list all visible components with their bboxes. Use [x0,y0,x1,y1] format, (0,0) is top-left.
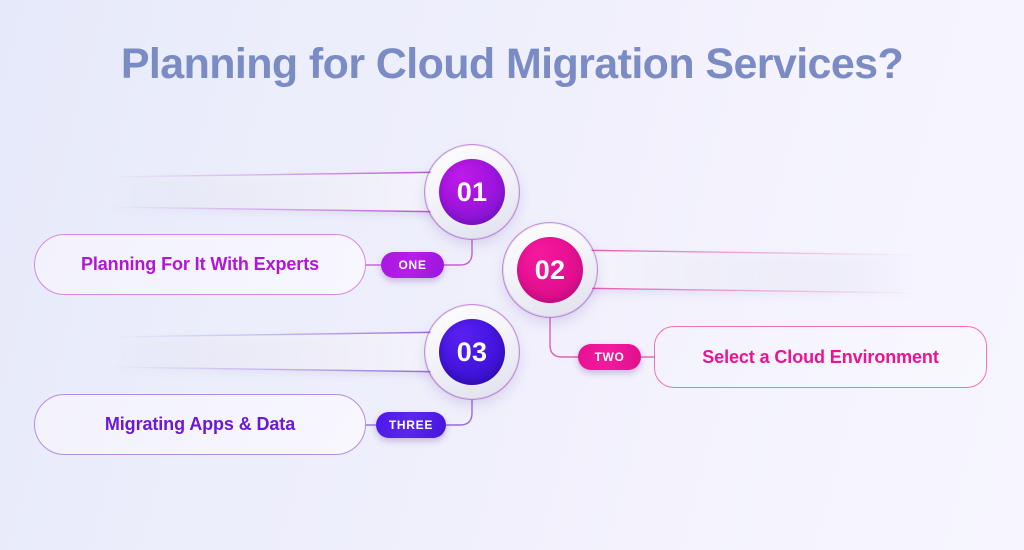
connector-02-to-badge-two [550,318,578,357]
step-label-box-02[interactable]: Select a Cloud Environment [654,326,987,388]
step-number-02: 02 [517,237,583,303]
connector-01-to-badge-one [444,240,472,265]
step-label-box-03[interactable]: Migrating Apps & Data [34,394,366,455]
step-label-box-01[interactable]: Planning For It With Experts [34,234,366,295]
bar-step-01 [110,172,455,212]
bar-step-03 [112,332,455,372]
step-badge-two: TWO [578,344,641,370]
step-number-03: 03 [439,319,505,385]
step-node-01[interactable]: 01 [426,146,518,238]
step-node-03[interactable]: 03 [426,306,518,398]
infographic-canvas: Planning for Cloud Migration Services? [0,0,1024,550]
page-title: Planning for Cloud Migration Services? [0,40,1024,89]
bar-step-02 [568,250,916,293]
step-badge-three: THREE [376,412,446,438]
step-badge-one: ONE [381,252,444,278]
step-number-01: 01 [439,159,505,225]
connector-03-to-badge-three [446,400,472,425]
step-node-02[interactable]: 02 [504,224,596,316]
